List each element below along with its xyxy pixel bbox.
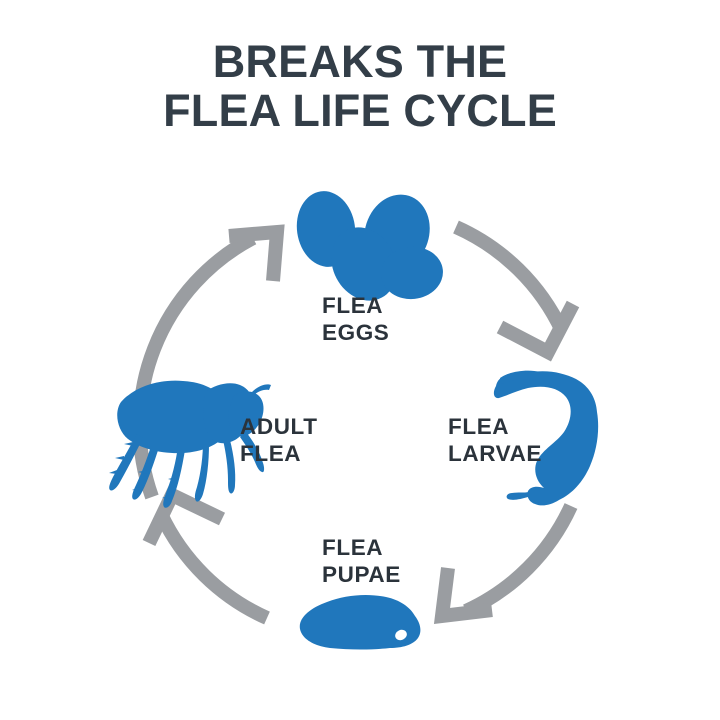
stage-label-pupae-line1: FLEA xyxy=(322,535,383,560)
stage-label-adult: ADULT FLEA xyxy=(240,413,318,468)
arrow-adult-to-eggs-head xyxy=(229,232,277,281)
stage-label-adult-line2: FLEA xyxy=(240,440,318,467)
arrow-larvae-to-pupae-shaft xyxy=(466,506,571,611)
stage-label-pupae-line2: PUPAE xyxy=(322,561,401,588)
stage-label-eggs: FLEA EGGS xyxy=(322,292,389,347)
flea-larvae-tail xyxy=(507,492,529,500)
arrow-eggs-to-larvae-shaft xyxy=(456,227,562,331)
arrow-larvae-to-pupae xyxy=(442,506,571,616)
stage-label-adult-line1: ADULT xyxy=(240,414,318,439)
arrow-larvae-to-pupae-head xyxy=(442,568,492,616)
flea-life-cycle-infographic: BREAKS THE FLEA LIFE CYCLE xyxy=(0,0,720,720)
arrow-eggs-to-larvae-head xyxy=(500,304,573,352)
arrow-eggs-to-larvae xyxy=(456,227,573,352)
flea-pupae-body xyxy=(300,595,421,650)
adult-flea-leg-5 xyxy=(223,440,235,494)
stage-label-larvae: FLEA LARVAE xyxy=(448,413,542,468)
arrow-pupae-to-adult-shaft xyxy=(161,514,267,618)
stage-label-pupae: FLEA PUPAE xyxy=(322,534,401,589)
flea-pupae-icon xyxy=(300,595,421,650)
cycle-diagram xyxy=(0,0,720,720)
stage-label-larvae-line1: FLEA xyxy=(448,414,509,439)
stage-label-eggs-line1: FLEA xyxy=(322,293,383,318)
stage-label-eggs-line2: EGGS xyxy=(322,319,389,346)
adult-flea-antenna xyxy=(252,384,271,396)
arrow-adult-to-eggs-shaft xyxy=(140,238,253,497)
arrow-pupae-to-adult-head xyxy=(149,495,222,543)
arrow-pupae-to-adult xyxy=(149,495,267,618)
stage-label-larvae-line2: LARVAE xyxy=(448,440,542,467)
